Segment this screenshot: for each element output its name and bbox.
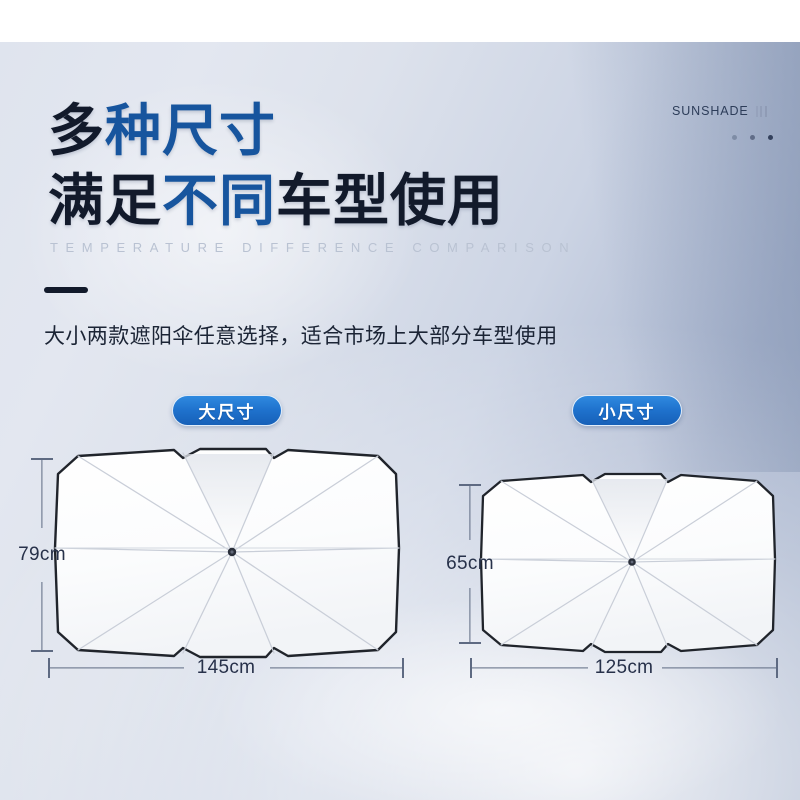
brand-dots-icon: [732, 135, 773, 140]
top-white-band: [0, 0, 800, 44]
dimension-width-large: 145cm: [48, 656, 404, 680]
headline-block: 多种尺寸 满足不同车型使用: [48, 96, 688, 236]
headline-line-1: 多种尺寸: [48, 96, 688, 166]
umbrella-sunshade-large-icon: [52, 444, 402, 662]
subtitle-text: 大小两款遮阳伞任意选择，适合市场上大部分车型使用: [44, 322, 558, 352]
product-marketing-image: SUNSHADE 多种尺寸 满足不同车型使用 TEMPERATURE DIFFE…: [0, 0, 800, 800]
dimension-width-small-label: 125cm: [595, 657, 654, 678]
dimension-height-large: 79cm: [24, 458, 60, 652]
dimension-height-large-label: 79cm: [18, 544, 66, 565]
dimension-height-small-label: 65cm: [446, 553, 494, 574]
headline-line-2-blue: 不同: [162, 169, 276, 232]
headline-line-2-dark-a: 满足: [48, 169, 162, 232]
brand-bars-icon: [756, 106, 767, 117]
divider-dash: [44, 287, 88, 293]
size-badge-small: 小尺寸: [572, 395, 682, 426]
headline-line-1-dark: 多: [48, 99, 105, 162]
headline-line-1-blue: 种尺寸: [105, 99, 276, 162]
size-badge-large: 大尺寸: [172, 395, 282, 426]
umbrella-sunshade-small-icon: [478, 470, 778, 656]
dimension-width-large-label: 145cm: [197, 657, 256, 678]
headline-line-2: 满足不同车型使用: [48, 166, 688, 236]
eyebrow-text: TEMPERATURE DIFFERENCE COMPARISON: [50, 240, 576, 255]
dimension-height-small: 65cm: [452, 484, 488, 644]
dimension-width-small: 125cm: [470, 656, 778, 680]
headline-line-2-dark-b: 车型使用: [276, 169, 504, 232]
